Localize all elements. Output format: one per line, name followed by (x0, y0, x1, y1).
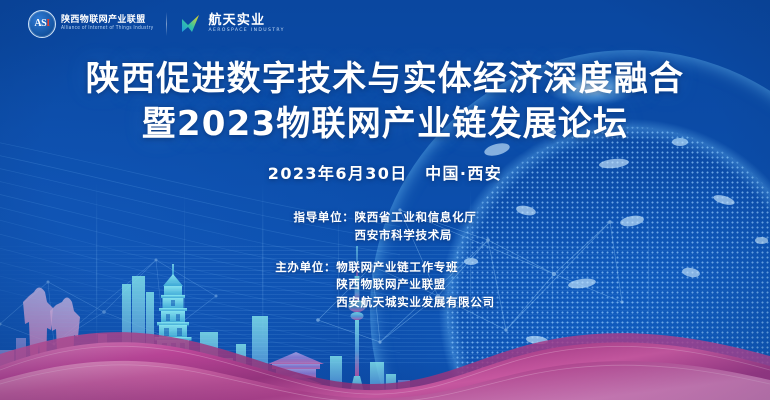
host-unit-item: 物联网产业链工作专班 (336, 259, 495, 277)
host-unit-item: 西安航天城实业发展有限公司 (336, 294, 495, 312)
host-units-label: 主办单位： (275, 259, 336, 277)
guidance-units-label: 指导单位： (294, 209, 355, 227)
event-dateline: 2023年6月30日 中国·西安 (0, 160, 770, 184)
page-title: 陕西促进数字技术与实体经济深度融合 暨2023物联网产业链发展论坛 (0, 62, 770, 141)
headline-line-1: 陕西促进数字技术与实体经济深度融合 (0, 62, 770, 96)
conference-poster: ASI 陕西物联网产业联盟 Alliance of Internet of Th… (0, 0, 770, 400)
asi-name-cn: 陕西物联网产业联盟 (61, 16, 153, 25)
guidance-units-block: 指导单位： 陕西省工业和信息化厅 西安市科学技术局 (294, 209, 477, 245)
aerospace-industry-logo: 航天实业 AEROSPACE INDUSTRY (180, 14, 284, 34)
logo-divider (166, 12, 167, 36)
aerospace-name-cn: 航天实业 (208, 14, 284, 28)
asi-name-en: Alliance of Internet of Things Industry (61, 27, 153, 32)
organizer-section: 指导单位： 陕西省工业和信息化厅 西安市科学技术局 主办单位： 物联网产业链工作… (0, 209, 770, 312)
guidance-unit-item: 西安市科学技术局 (355, 227, 477, 245)
aerospace-name-en: AEROSPACE INDUSTRY (208, 29, 284, 34)
guidance-unit-item: 陕西省工业和信息化厅 (355, 209, 477, 227)
asi-monogram-accent: I (46, 18, 49, 29)
logo-bar: ASI 陕西物联网产业联盟 Alliance of Internet of Th… (28, 10, 285, 38)
asi-monogram-icon: ASI (28, 10, 56, 38)
asi-alliance-logo: ASI 陕西物联网产业联盟 Alliance of Internet of Th… (28, 10, 153, 38)
asi-monogram-text: AS (34, 18, 46, 29)
host-unit-item: 陕西物联网产业联盟 (336, 276, 495, 294)
aerospace-swoosh-icon (180, 14, 202, 34)
headline-line-2: 暨2023物联网产业链发展论坛 (0, 107, 770, 141)
host-units-block: 主办单位： 物联网产业链工作专班 陕西物联网产业联盟 西安航天城实业发展有限公司 (275, 259, 495, 312)
